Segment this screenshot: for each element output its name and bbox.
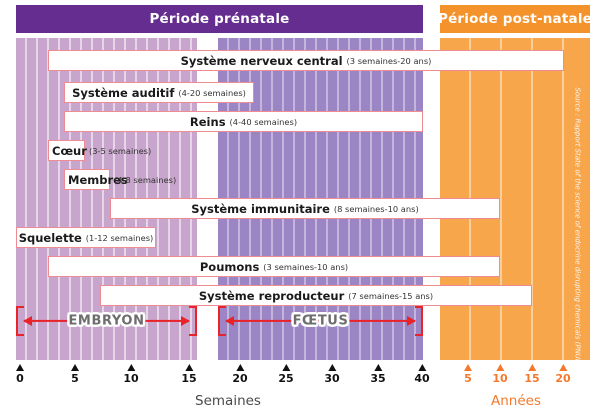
tick-label: 15 [181, 372, 196, 385]
bar-range: (4-8 semaines) [114, 175, 176, 185]
tick-week-25: 25 [278, 364, 293, 385]
tick-marker-icon [559, 364, 567, 371]
tick-week-20: 20 [232, 364, 247, 385]
axis-title-years: Années [491, 393, 541, 409]
bar-systeme-auditif[interactable]: Système auditif (4-20 semaines) [64, 82, 254, 103]
tick-label: 10 [123, 372, 138, 385]
tick-marker-icon [16, 364, 24, 371]
bar-range: (3 semaines-10 ans) [263, 262, 348, 272]
bar-systeme-immunitaire[interactable]: Système immunitaire (8 semaines-10 ans) [110, 198, 500, 219]
bar-range: (3 semaines-20 ans) [347, 56, 432, 66]
bar-range: (4-20 semaines) [178, 88, 246, 98]
tick-marker-icon [71, 364, 79, 371]
bar-squelette[interactable]: Squelette (1-12 semaines) [16, 227, 156, 248]
tick-week-40: 40 [414, 364, 429, 385]
bracket-label: FŒTUS [218, 314, 423, 329]
tick-label: 15 [524, 372, 539, 385]
axis-title-weeks: Semaines [195, 393, 261, 409]
tick-marker-icon [328, 364, 336, 371]
bar-label: Reins [190, 115, 226, 129]
bar-reins[interactable]: Reins (4-40 semaines) [64, 111, 423, 132]
bar-label: Système reproducteur [199, 289, 344, 303]
tick-label: 25 [278, 372, 293, 385]
tick-week-15: 15 [181, 364, 196, 385]
bar-label: Squelette [19, 231, 82, 245]
tick-year-5: 5 [464, 364, 472, 385]
tick-week-0: 0 [16, 364, 24, 385]
tick-marker-icon [127, 364, 135, 371]
tick-marker-icon [528, 364, 536, 371]
tick-marker-icon [236, 364, 244, 371]
bar-range: (1-12 semaines) [86, 233, 154, 243]
tick-week-30: 30 [324, 364, 339, 385]
tick-week-5: 5 [71, 364, 79, 385]
tick-week-10: 10 [123, 364, 138, 385]
bar-systeme-reproducteur[interactable]: Système reproducteur (7 semaines-15 ans) [100, 285, 532, 306]
bracket-embryo: EMBRYON [16, 306, 197, 336]
bar-membres[interactable]: Membres (4-8 semaines) [64, 169, 110, 190]
bar-label: Système auditif [72, 86, 174, 100]
bar-poumons[interactable]: Poumons (3 semaines-10 ans) [48, 256, 500, 277]
tick-year-15: 15 [524, 364, 539, 385]
tick-marker-icon [464, 364, 472, 371]
tick-label: 5 [464, 372, 472, 385]
tick-label: 35 [370, 372, 385, 385]
tick-week-35: 35 [370, 364, 385, 385]
tick-marker-icon [374, 364, 382, 371]
bar-coeur[interactable]: Cœur (3-5 semaines) [48, 140, 85, 161]
tick-marker-icon [496, 364, 504, 371]
tick-label: 0 [16, 372, 24, 385]
bracket-label: EMBRYON [16, 314, 197, 329]
tick-label: 5 [71, 372, 79, 385]
header-prenatal: Période prénatale [16, 5, 423, 33]
tick-label: 20 [232, 372, 247, 385]
chart-plot-area: Système nerveux central (3 semaines-20 a… [0, 38, 600, 360]
tick-marker-icon [418, 364, 426, 371]
bar-label: Système immunitaire [191, 202, 330, 216]
bar-label: Poumons [200, 260, 259, 274]
bar-label: Cœur [52, 144, 87, 158]
tick-label: 20 [555, 372, 570, 385]
tick-marker-icon [185, 364, 193, 371]
bar-systeme-nerveux-central[interactable]: Système nerveux central (3 semaines-20 a… [48, 50, 564, 71]
tick-label: 40 [414, 372, 429, 385]
tick-year-20: 20 [555, 364, 570, 385]
bar-range: (3-5 semaines) [89, 146, 151, 156]
bar-label: Système nerveux central [181, 54, 343, 68]
tick-marker-icon [282, 364, 290, 371]
header-postnatal: Période post-natale [440, 5, 590, 33]
bar-range: (8 semaines-10 ans) [334, 204, 419, 214]
bar-range: (7 semaines-15 ans) [348, 291, 433, 301]
tick-label: 10 [492, 372, 507, 385]
bracket-fetus: FŒTUS [218, 306, 423, 336]
tick-year-10: 10 [492, 364, 507, 385]
tick-label: 30 [324, 372, 339, 385]
bar-range: (4-40 semaines) [230, 117, 298, 127]
